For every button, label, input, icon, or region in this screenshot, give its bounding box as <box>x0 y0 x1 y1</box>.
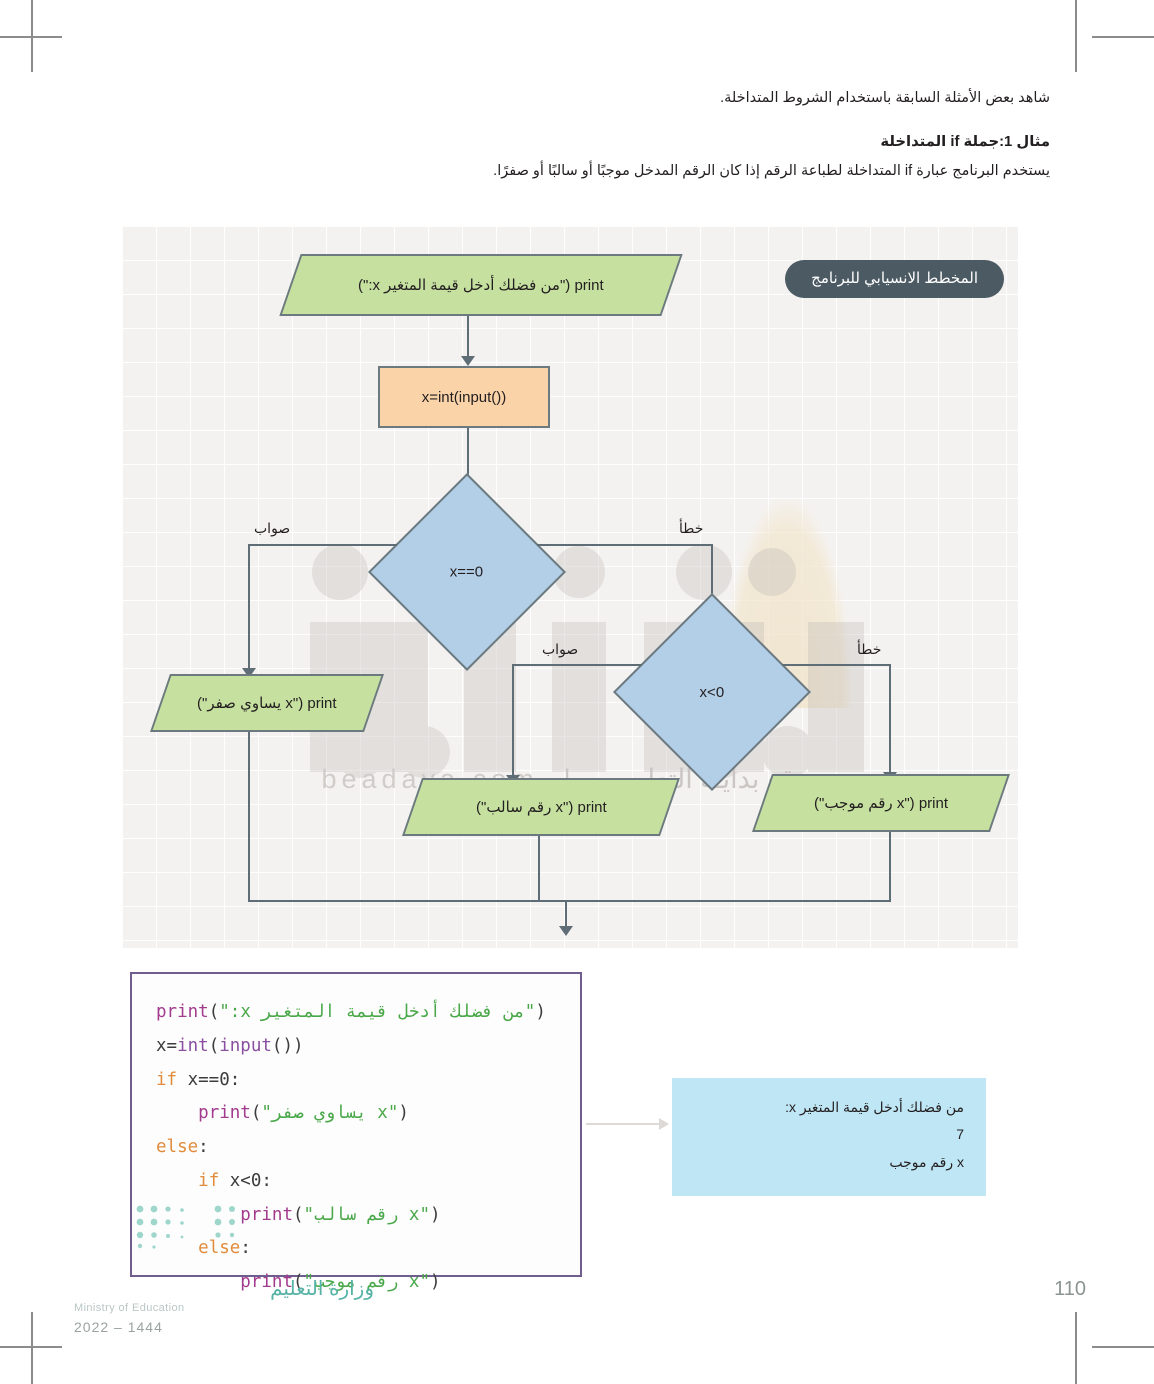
branch-label-zero-true: صواب <box>254 520 290 537</box>
code-token: int <box>177 1036 209 1056</box>
connector-neg-false-h <box>782 664 891 666</box>
code-indent <box>156 1103 198 1123</box>
crop-mark-bottom-left-h <box>0 1346 62 1348</box>
connector-neg-false-v <box>889 664 891 776</box>
flow-node-assign: x=int(input()) <box>378 366 550 428</box>
flow-node-out-negative: print ("x رقم سالب") <box>402 778 680 836</box>
code-line: print("من فضلك أدخل قيمة المتغير x:") <box>156 996 580 1030</box>
flow-node-out-positive-label: print ("x رقم موجب") <box>814 794 948 812</box>
connector-merge-left-v <box>248 732 250 902</box>
code-token: else <box>198 1238 240 1258</box>
code-token: ( <box>209 1036 220 1056</box>
output-prompt-line: من فضلك أدخل قيمة المتغير x: <box>694 1094 964 1121</box>
code-token: print <box>240 1205 293 1225</box>
branch-label-neg-false: خطأ <box>857 641 881 658</box>
connector-merge-h <box>248 900 891 902</box>
code-token: ) <box>535 1002 546 1022</box>
code-token: ( <box>209 1002 220 1022</box>
flow-node-input-prompt-label: print ("من فضلك أدخل قيمة المتغير x:") <box>358 276 604 294</box>
flowchart-canvas: beadaya.com | موقع بدايـة التعليمي المخط… <box>122 226 1018 948</box>
example-title: مثال 1:جملة if المتداخلة <box>110 133 1050 150</box>
flow-node-out-zero-label: print ("x يساوي صفر") <box>197 694 337 712</box>
page-number: 110 <box>1054 1278 1086 1301</box>
arrowhead-assign <box>461 356 475 366</box>
intro-text-block: شاهد بعض الأمثلة السابقة باستخدام الشروط… <box>110 86 1050 183</box>
code-indent <box>156 1171 198 1191</box>
code-token: input <box>219 1036 272 1056</box>
code-token: x<0: <box>219 1171 272 1191</box>
code-token: : <box>240 1238 251 1258</box>
ministry-name-arabic: وزارة التعليم <box>74 1276 374 1301</box>
flow-node-decision-negative-label: x<0 <box>700 683 725 700</box>
connector-zero-true-h <box>248 544 397 546</box>
code-token: ) <box>430 1272 441 1292</box>
code-lines: print("من فضلك أدخل قيمة المتغير x:")x=i… <box>156 996 580 1300</box>
code-token: : <box>198 1137 209 1157</box>
connector-neg-true-h <box>512 664 642 666</box>
branch-label-zero-false: خطأ <box>679 520 703 537</box>
code-line: else: <box>156 1232 580 1266</box>
flow-node-decision-zero: x==0 <box>368 473 566 671</box>
code-line: print("x يساوي صفر") <box>156 1097 580 1131</box>
flow-node-assign-label: x=int(input()) <box>422 389 507 406</box>
flow-node-out-positive: print ("x رقم موجب") <box>752 774 1010 832</box>
crop-mark-bottom-right-v <box>1075 1312 1077 1384</box>
code-token: x= <box>156 1036 177 1056</box>
code-token: "x رقم سالب" <box>304 1205 430 1225</box>
code-token: ()) <box>272 1036 304 1056</box>
code-indent <box>156 1238 198 1258</box>
crop-mark-top-right-v <box>1075 0 1077 72</box>
code-token: if <box>156 1070 177 1090</box>
code-line: x=int(input()) <box>156 1030 580 1064</box>
lead-paragraph: شاهد بعض الأمثلة السابقة باستخدام الشروط… <box>110 86 1050 111</box>
flowchart-title-badge: المخطط الانسيابي للبرنامج <box>785 260 1004 298</box>
code-token: "من فضلك أدخل قيمة المتغير x:" <box>219 1002 535 1022</box>
code-line: if x<0: <box>156 1165 580 1199</box>
output-entered-value: 7 <box>694 1121 964 1148</box>
code-token: print <box>156 1002 209 1022</box>
code-line: print("x رقم سالب") <box>156 1199 580 1233</box>
code-token: ( <box>251 1103 262 1123</box>
crop-mark-top-left-h <box>0 36 62 38</box>
code-token: ( <box>293 1205 304 1225</box>
crop-mark-bottom-right-h <box>1092 1346 1154 1348</box>
flow-node-decision-zero-label: x==0 <box>450 564 483 581</box>
code-line: else: <box>156 1131 580 1165</box>
flow-node-input-prompt: print ("من فضلك أدخل قيمة المتغير x:") <box>279 254 682 316</box>
connector-merge-mid-v <box>538 836 540 902</box>
program-output-panel: من فضلك أدخل قيمة المتغير x: 7 x رقم موج… <box>672 1078 986 1196</box>
code-token: "x يساوي صفر" <box>261 1103 398 1123</box>
code-token: print <box>198 1103 251 1123</box>
connector-input-to-assign <box>467 316 469 358</box>
flow-node-decision-negative: x<0 <box>613 593 811 791</box>
code-indent <box>156 1205 240 1225</box>
connector-merge-right-v <box>889 832 891 902</box>
ministry-year: 2022 – 1444 <box>74 1319 374 1335</box>
ministry-name-english: Ministry of Education <box>74 1302 374 1314</box>
flow-node-out-zero: print ("x يساوي صفر") <box>150 674 384 732</box>
code-line: if x==0: <box>156 1064 580 1098</box>
code-panel: print("من فضلك أدخل قيمة المتغير x:")x=i… <box>130 972 582 1277</box>
code-token: else <box>156 1137 198 1157</box>
example-description: يستخدم البرنامج عبارة if المتداخلة لطباع… <box>110 159 1050 184</box>
code-token: ) <box>430 1205 441 1225</box>
arrowhead-flow-end <box>559 926 573 936</box>
crop-mark-top-right-h <box>1092 36 1154 38</box>
connector-zero-false-h <box>537 544 713 546</box>
crop-mark-bottom-left-v <box>31 1312 33 1384</box>
branch-label-neg-true: صواب <box>542 641 578 658</box>
code-token: ) <box>398 1103 409 1123</box>
connector-zero-true-v <box>248 544 250 672</box>
connector-neg-true-v <box>512 664 514 779</box>
code-token: if <box>198 1171 219 1191</box>
code-token: x==0: <box>177 1070 240 1090</box>
output-result-line: x رقم موجب <box>694 1149 964 1176</box>
code-to-output-arrow <box>586 1123 660 1125</box>
flow-node-out-negative-label: print ("x رقم سالب") <box>476 798 607 816</box>
ministry-footer: وزارة التعليم Ministry of Education 2022… <box>74 1276 374 1335</box>
